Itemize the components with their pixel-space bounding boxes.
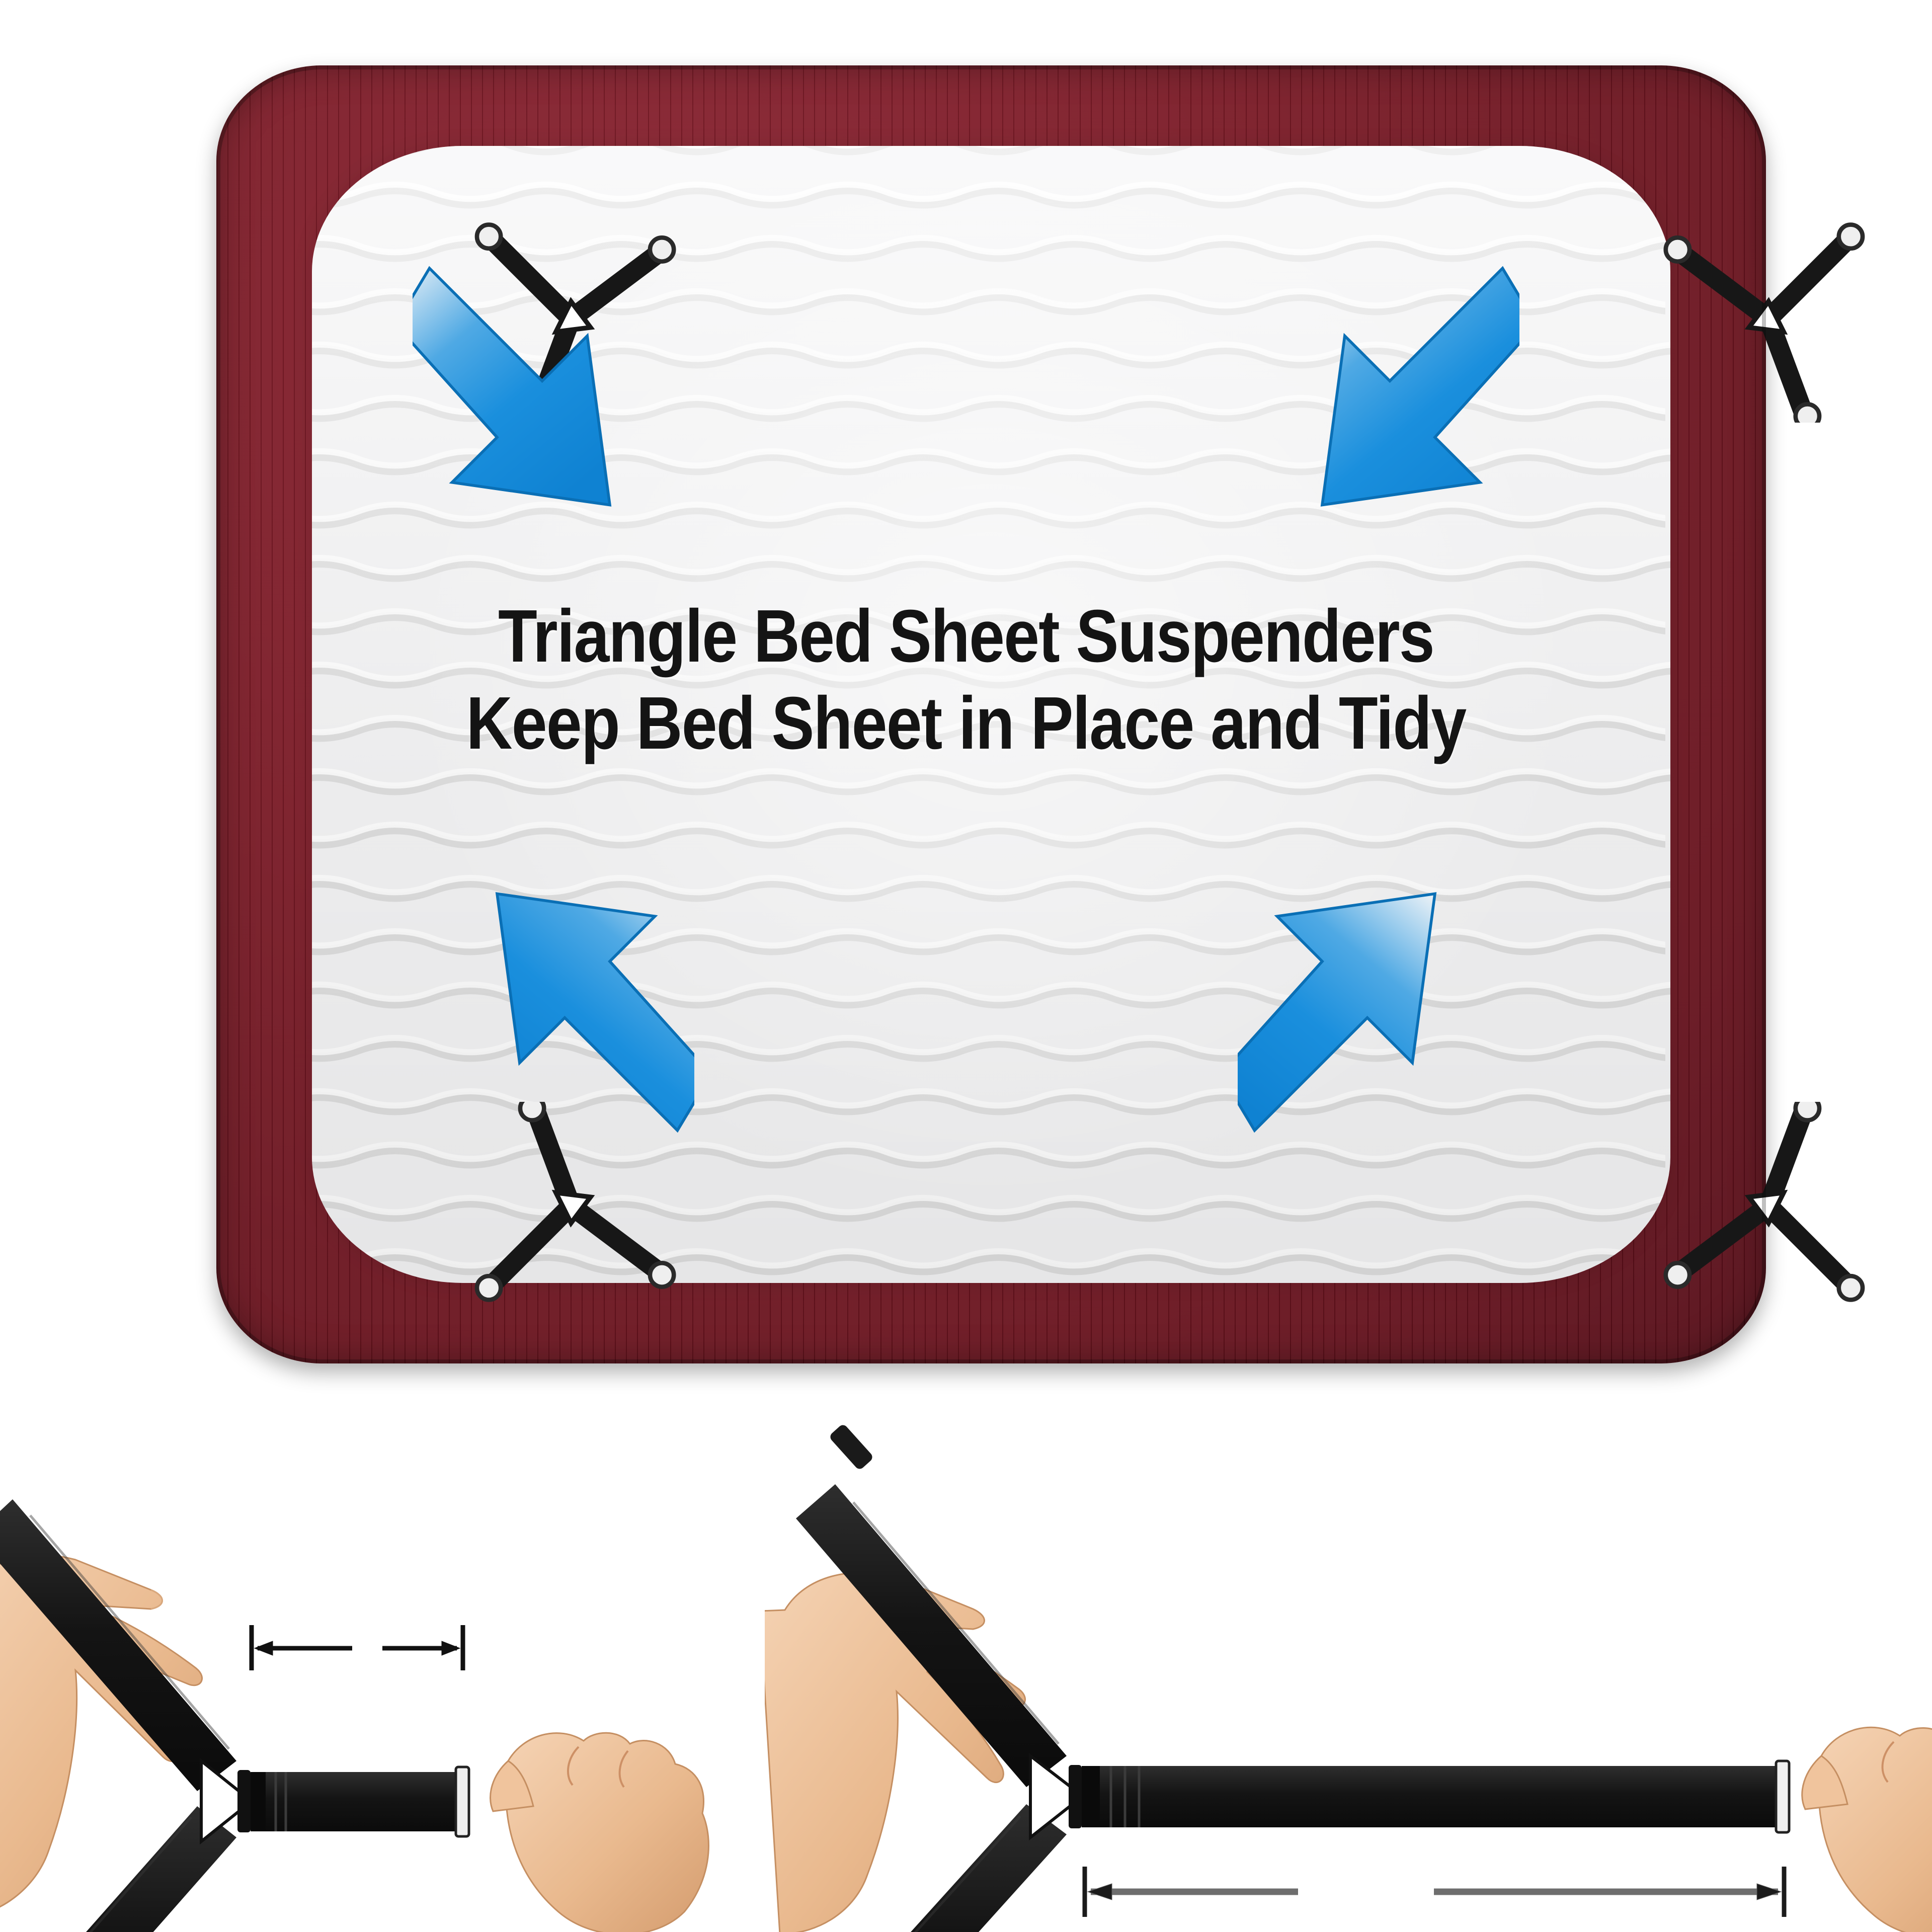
mattress-scene: Triangle Bed Sheet Suspenders Keep Bed S… <box>0 0 1932 1409</box>
arrow-bottom-right-icon <box>1238 825 1519 1137</box>
elastic-strap-minimum <box>251 1767 469 1836</box>
strap-end-clip-top <box>828 1423 874 1471</box>
product-infographic: Triangle Bed Sheet Suspenders Keep Bed S… <box>0 0 1932 1932</box>
dimension-line-4in <box>252 1625 463 1670</box>
arrow-top-left-icon <box>413 262 694 574</box>
right-pinching-hand <box>491 1733 709 1932</box>
right-pinching-hand <box>1802 1727 1932 1932</box>
elastic-strap-stretched <box>1082 1761 1789 1832</box>
arrow-top-right-icon <box>1238 262 1519 574</box>
arrow-bottom-left-icon <box>413 825 694 1137</box>
corner-clip-top-right <box>1660 206 1877 423</box>
triangle-junction <box>201 1761 252 1841</box>
headline-line-2: Keep Bed Sheet in Place and Tidy <box>135 686 1797 762</box>
headline-line-1: Triangle Bed Sheet Suspenders <box>498 595 1434 678</box>
triangle-junction <box>1030 1756 1083 1837</box>
product-headline: Triangle Bed Sheet Suspenders Keep Bed S… <box>135 599 1797 762</box>
panel-maximum-length <box>765 1409 1932 1932</box>
measurement-panels: 4 inches Minimum Length <box>0 1409 1932 1932</box>
corner-clip-bottom-right <box>1660 1102 1877 1318</box>
panel-minimum-length: 4 inches Minimum Length <box>0 1409 765 1932</box>
dimension-line-17in <box>1085 1867 1784 1917</box>
